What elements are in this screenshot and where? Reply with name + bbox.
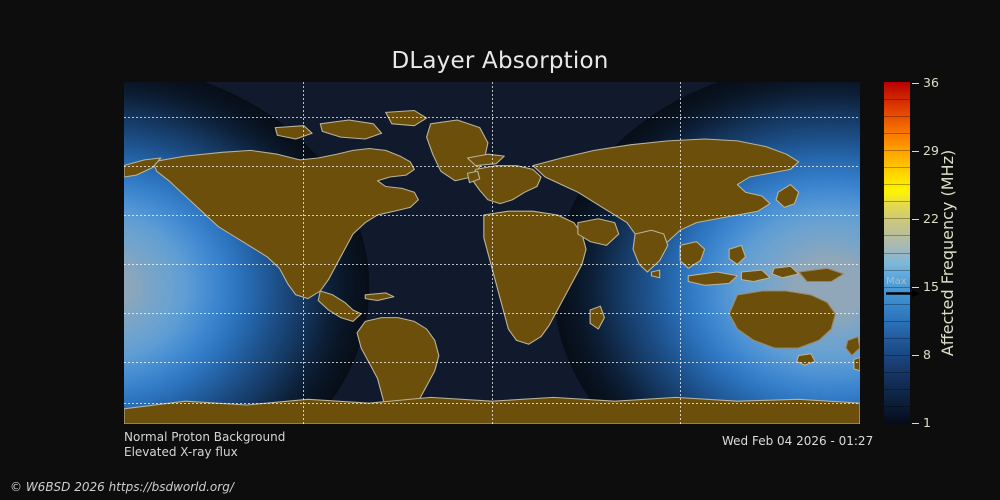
footer-credit[interactable]: © W6BSD 2026 https://bsdworld.org/ xyxy=(10,480,234,494)
colorbar-tick-8 xyxy=(912,355,919,356)
colorbar-tick-1 xyxy=(912,423,919,424)
right-arrow-icon xyxy=(886,290,920,297)
colorbar-tick-36 xyxy=(912,83,919,84)
colorbar-axis-label: Affected Frequency (MHz) xyxy=(935,82,961,424)
colorbar[interactable]: 36 29 22 15 8 1 Max xyxy=(884,82,910,424)
colorbar-tick-29 xyxy=(912,151,919,152)
page-title: DLayer Absorption xyxy=(0,48,1000,74)
map-canvas xyxy=(124,82,860,424)
timestamp: Wed Feb 04 2026 - 01:27 xyxy=(722,434,873,448)
colorbar-label-1: 1 xyxy=(923,418,931,428)
caption-proton-background: Normal Proton Background xyxy=(124,430,285,444)
colorbar-tick-22 xyxy=(912,219,919,220)
screenshot-root: DLayer Absorption xyxy=(0,0,1000,500)
colorbar-max-label: Max xyxy=(886,276,907,287)
caption-xray-flux: Elevated X-ray flux xyxy=(124,445,238,459)
world-map[interactable] xyxy=(124,82,860,424)
colorbar-label-8: 8 xyxy=(923,350,931,360)
